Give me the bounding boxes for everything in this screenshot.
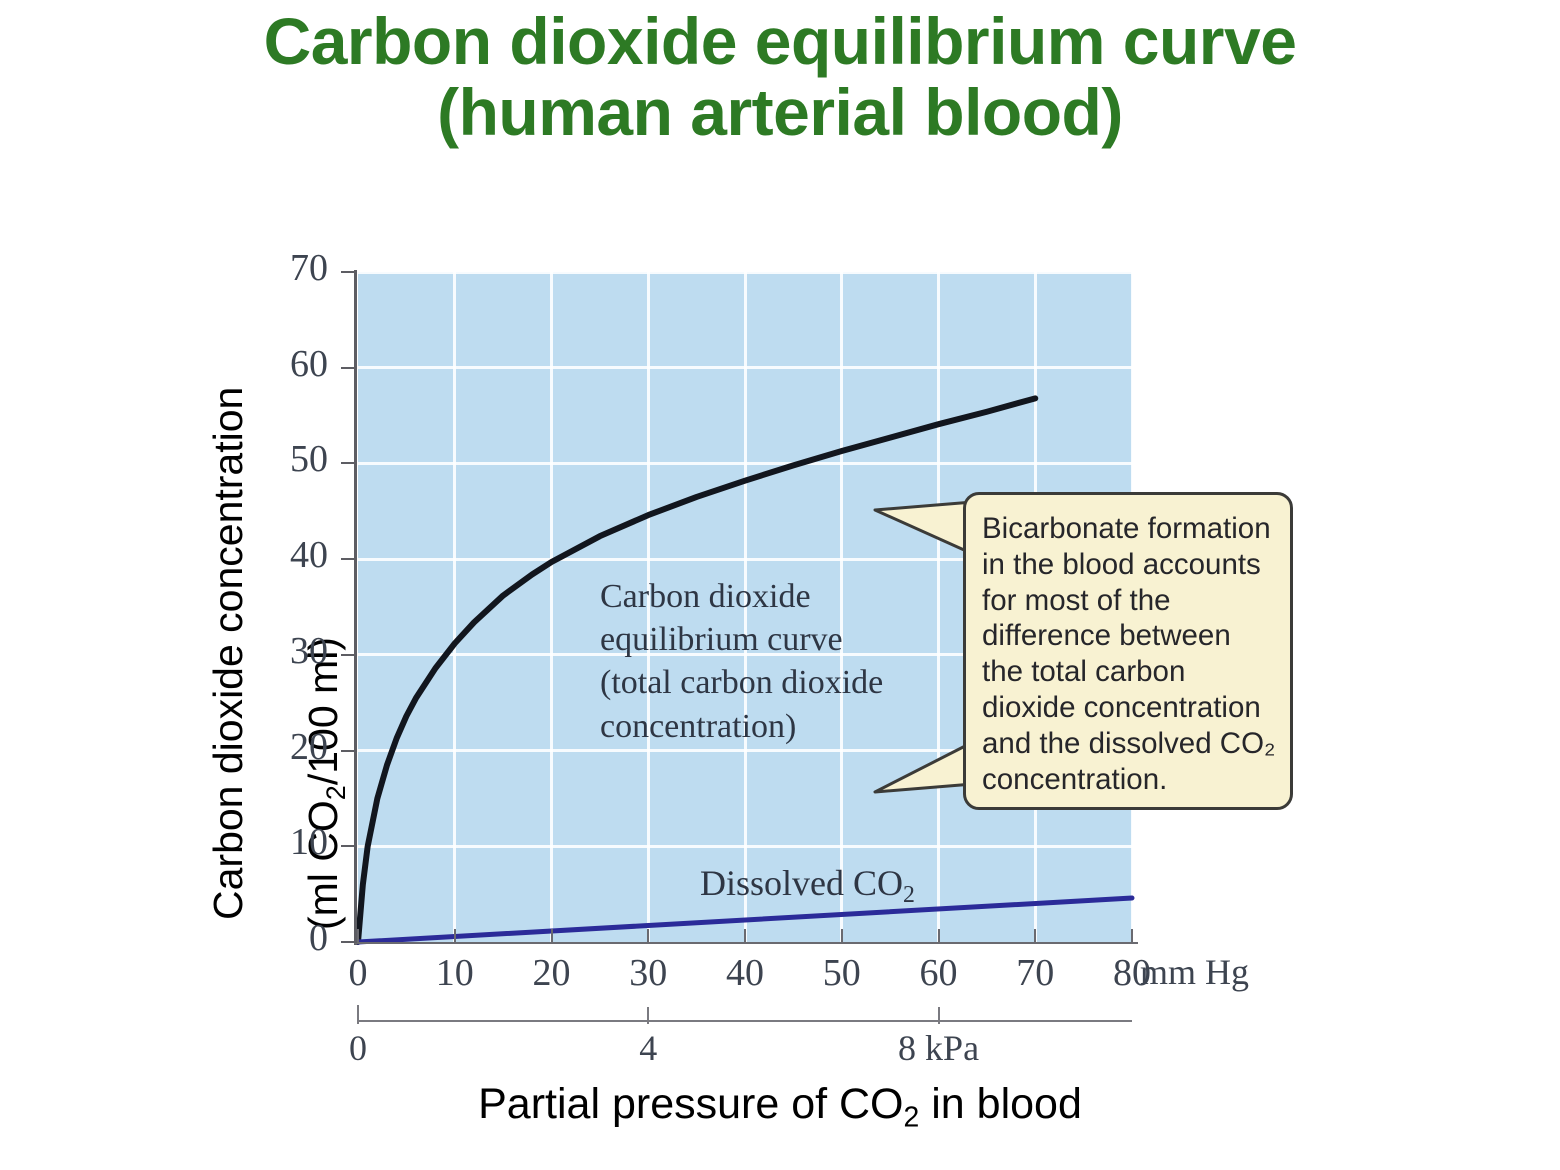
- callout-pointer-tails: [873, 492, 973, 810]
- x-axis-title-subscript: 2: [904, 1102, 920, 1134]
- x-axis-tick: [938, 929, 940, 944]
- y-axis-tick-label: 30: [28, 629, 328, 673]
- x-axis-line: [354, 942, 1138, 944]
- total-co2-curve-label-line: equilibrium curve: [600, 618, 883, 661]
- y-axis-tick-label: 60: [28, 342, 328, 386]
- y-axis-tick: [341, 750, 357, 752]
- co2-equilibrium-chart: Carbon dioxide concentration (ml CO2/100…: [0, 0, 1560, 1170]
- y-axis-tick: [341, 558, 357, 560]
- callout-text-line: dioxide concentration: [982, 690, 1276, 726]
- total-co2-curve-label-line: (total carbon dioxide: [600, 661, 883, 704]
- kpa-axis-tick: [647, 1007, 649, 1024]
- y-axis-tick: [341, 845, 357, 847]
- callout-text-line: the total carbon: [982, 654, 1276, 690]
- y-axis-tick-label: 0: [28, 916, 328, 960]
- kpa-axis-tick-label: 8 kPa: [859, 1027, 1019, 1069]
- x-axis-title-post: in blood: [919, 1080, 1082, 1128]
- y-axis-title-subscript: 2: [321, 785, 351, 800]
- y-axis-tick-label: 50: [28, 437, 328, 481]
- callout-text-line: Bicarbonate formation: [982, 511, 1276, 547]
- kpa-axis-tick-label: 0: [278, 1027, 438, 1069]
- y-axis-tick: [341, 654, 357, 656]
- y-axis-tick: [341, 271, 357, 273]
- callout-text-line: in the blood accounts: [982, 547, 1276, 583]
- callout-text-line: concentration.: [982, 762, 1276, 798]
- y-axis-tick: [341, 941, 357, 943]
- y-axis-tick-label: 40: [28, 533, 328, 577]
- x-axis-tick: [551, 929, 553, 944]
- y-axis-title-line2: (ml CO2/100 ml): [300, 637, 352, 930]
- callout-text-line: for most of the: [982, 583, 1276, 619]
- callout-text-line: and the dissolved CO₂: [982, 726, 1276, 762]
- x-axis-unit-mmhg: mm Hg: [1140, 951, 1249, 993]
- callout-text-line: difference between: [982, 618, 1276, 654]
- x-axis-tick: [357, 929, 359, 944]
- x-axis-tick: [744, 929, 746, 944]
- dissolved-co2-label-pre: Dissolved CO: [700, 863, 903, 903]
- y-axis-tick-label: 10: [28, 820, 328, 864]
- x-axis-tick: [1034, 929, 1036, 944]
- total-co2-curve-label-line: Carbon dioxide: [600, 575, 883, 618]
- y-axis-tick-label: 20: [28, 725, 328, 769]
- bicarbonate-callout: Bicarbonate formationin the blood accoun…: [963, 492, 1293, 810]
- kpa-axis-line: [358, 1020, 1132, 1022]
- kpa-axis-tick: [938, 1007, 940, 1024]
- dissolved-co2-label: Dissolved CO2: [700, 862, 915, 909]
- x-axis-tick: [454, 929, 456, 944]
- x-axis-title-pre: Partial pressure of CO: [478, 1080, 903, 1128]
- callout-text-box: Bicarbonate formationin the blood accoun…: [963, 492, 1293, 810]
- y-axis-tick-label: 70: [28, 246, 328, 290]
- y-axis-line: [354, 270, 357, 945]
- x-axis-tick: [1131, 929, 1133, 944]
- kpa-axis-tick-label: 4: [568, 1027, 728, 1069]
- x-axis-title: Partial pressure of CO2 in blood: [0, 1080, 1560, 1135]
- dissolved-co2-label-subscript: 2: [903, 882, 915, 908]
- total-co2-curve-label-line: concentration): [600, 705, 883, 748]
- kpa-axis-tick: [357, 1005, 359, 1024]
- y-axis-tick: [341, 367, 357, 369]
- x-axis-tick: [647, 929, 649, 944]
- x-axis-tick: [841, 929, 843, 944]
- total-co2-curve-label: Carbon dioxideequilibrium curve(total ca…: [600, 575, 883, 748]
- y-axis-tick: [341, 462, 357, 464]
